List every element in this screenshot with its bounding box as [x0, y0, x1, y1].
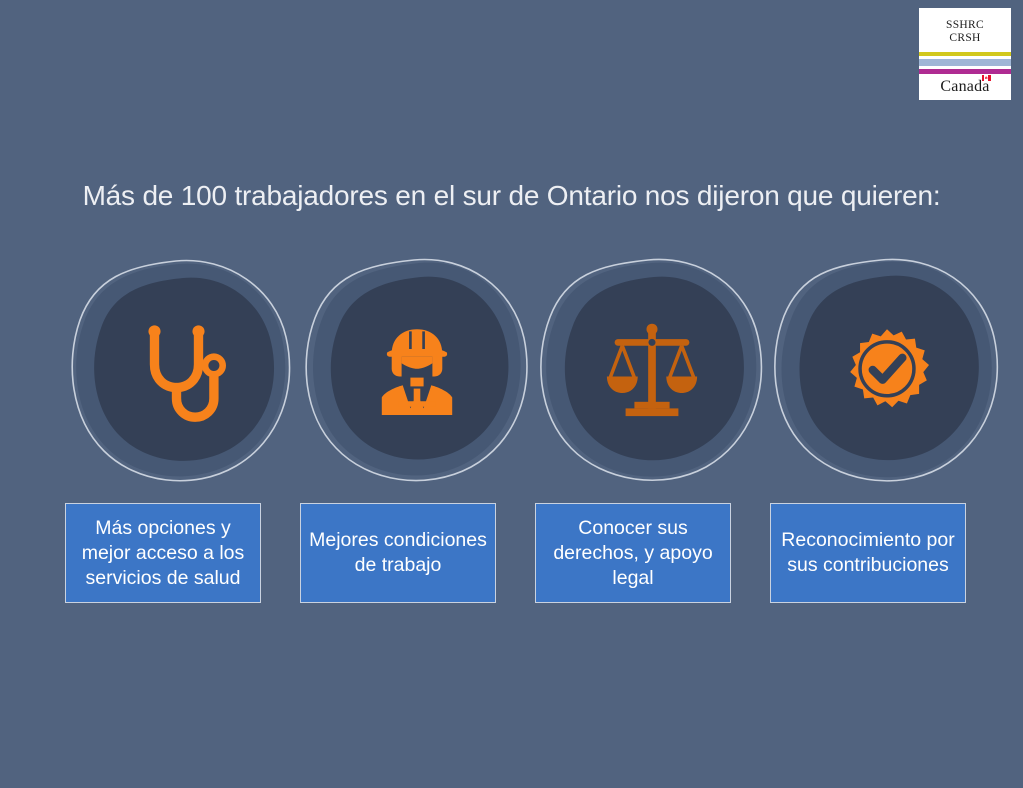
- badge-check-icon: [832, 316, 942, 426]
- caption-row: Más opciones y mejor acceso a los servic…: [0, 503, 1023, 607]
- caption-box-4[interactable]: Reconocimiento por sus contribuciones: [770, 503, 966, 603]
- logo-stripes: [919, 52, 1011, 74]
- caption-box-1[interactable]: Más opciones y mejor acceso a los servic…: [65, 503, 261, 603]
- logo-acronym-en: SSHRC: [946, 19, 984, 32]
- icon-cell-3: [536, 258, 768, 483]
- stripe-blue: [919, 59, 1011, 66]
- logo-acronyms: SSHRC CRSH: [919, 8, 1011, 52]
- logo-acronym-fr: CRSH: [949, 32, 980, 45]
- icon-cell-2: [301, 258, 533, 483]
- slide-canvas: SSHRC CRSH Canada Más de 100 trabajadore…: [0, 0, 1023, 788]
- icon-cell-1: [66, 258, 298, 483]
- page-title: Más de 100 trabajadores en el sur de Ont…: [0, 180, 1023, 212]
- scales-of-justice-icon: [597, 316, 707, 426]
- icon-row: [0, 258, 1023, 483]
- icon-cell-4: [771, 258, 1003, 483]
- stethoscope-icon: [127, 316, 237, 426]
- sshrc-crsh-canada-logo: SSHRC CRSH Canada: [919, 8, 1011, 100]
- canada-flag-icon: [982, 75, 991, 81]
- canada-wordmark-container: Canada: [919, 74, 1011, 100]
- caption-box-3[interactable]: Conocer sus derechos, y apoyo legal: [535, 503, 731, 603]
- canada-wordmark: Canada: [940, 78, 989, 96]
- caption-box-2[interactable]: Mejores condiciones de trabajo: [300, 503, 496, 603]
- construction-worker-icon: [362, 316, 472, 426]
